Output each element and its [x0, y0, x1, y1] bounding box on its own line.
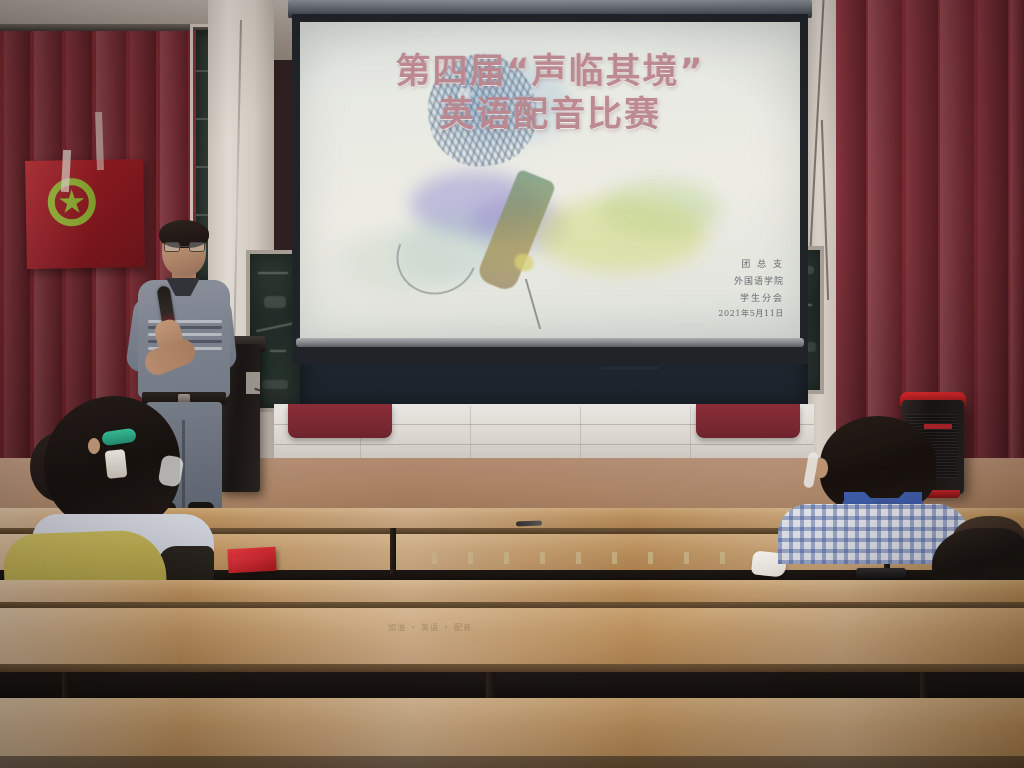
bench-row1-post-1 [390, 528, 396, 574]
bench-row1-slat-3 [504, 552, 509, 564]
bench-row1-slat-6 [612, 552, 617, 564]
stage-tile-seam-3 [580, 406, 581, 460]
mobile-phone-on-desk[interactable] [856, 568, 906, 579]
slide-title-line1: 第四届“声临其境” [395, 52, 704, 92]
splash-green [600, 180, 720, 238]
hair-clip-white-icon [105, 449, 128, 479]
bench-row2-desk-gloss [0, 608, 1024, 670]
bench-row1-slat-2 [468, 552, 473, 564]
student-left-ear [88, 438, 100, 454]
slide-title-line2: 英语配音比赛 [300, 95, 800, 136]
stage-tile-line-2 [274, 444, 814, 445]
student-front-left [10, 396, 224, 606]
stage-valance-left [288, 404, 392, 438]
credit-date: 2021年5月11日 [718, 307, 784, 322]
microphone-cable-graphic [525, 279, 541, 330]
slide-credits: 团 总 支 外国语学院 学生分会 2021年5月11日 [718, 257, 784, 322]
stage-tile-seam-2 [470, 406, 471, 460]
pen-on-desk[interactable] [516, 521, 542, 527]
bench-row3-shadow [0, 756, 1024, 768]
desk-graffiti: 加油 ・ 英语 ・ 配音 [388, 622, 708, 634]
slide-title: 第四届“声临其境” 英语配音比赛 [300, 52, 800, 135]
credit-college: 外国语学院 [718, 274, 784, 291]
bench-row1-slat-9 [720, 552, 725, 564]
glasses-icon [164, 242, 205, 252]
classroom-scene: 第四届“声临其境” 英语配音比赛 团 总 支 外国语学院 学生分会 2021年5… [0, 0, 1024, 768]
bench-row1-slat-8 [684, 552, 689, 564]
student-left-face-mask [158, 454, 185, 487]
stage-tile-seam-4 [690, 406, 691, 460]
projector-screen-bottom-bar [296, 338, 804, 347]
credit-branch: 学生分会 [718, 291, 784, 308]
bench-row1-slat-5 [576, 552, 581, 564]
credit-org-unit: 团 总 支 [718, 257, 784, 274]
projection-screen: 第四届“声临其境” 英语配音比赛 团 总 支 外国语学院 学生分会 2021年5… [300, 22, 800, 340]
bench-row1-slat-4 [540, 552, 545, 564]
curtain-rod-left [0, 24, 214, 31]
bench-row1-slat-7 [648, 552, 653, 564]
bench-row1-slat-1 [432, 552, 437, 564]
